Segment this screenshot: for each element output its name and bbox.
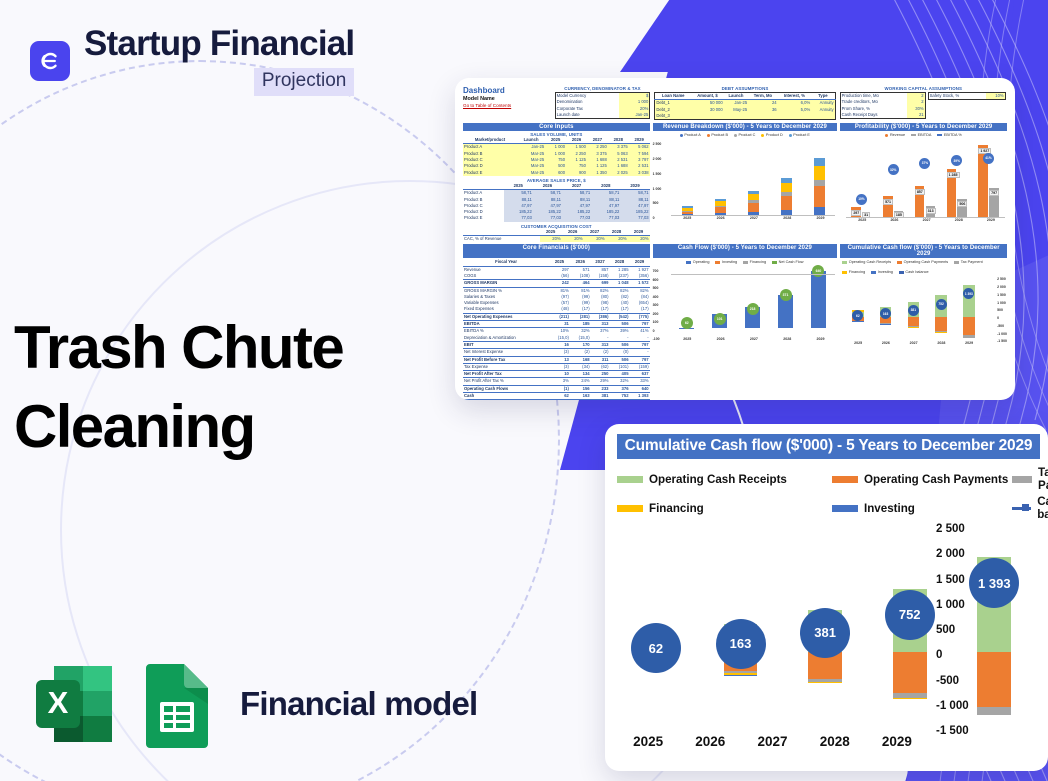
financial-cell: 506 xyxy=(610,341,630,348)
financial-cell: (17) xyxy=(570,306,591,313)
legend-item-operating-cash-receipts: Operating Cash Receipts xyxy=(617,466,832,492)
cumulative-cashflow-plot: 2 5002 0001 5001 0005000-500-1 000-1 500… xyxy=(617,529,1040,725)
brand-header: Startup Financial Projection xyxy=(30,26,354,96)
financial-cell: 637 xyxy=(630,371,650,378)
financial-cell: 376 xyxy=(610,385,630,392)
profitability-chart-title: Profitability ($'000) - 5 Years to Decem… xyxy=(840,123,1007,131)
financial-cell: 506 xyxy=(610,321,630,328)
x-tick: 2026 xyxy=(882,341,890,345)
legend-swatch xyxy=(842,271,847,274)
legend-label-tax-payment: Tax Payment xyxy=(1038,466,1048,492)
table-row: Net Profit Before Tax13168311506797 xyxy=(463,356,650,363)
table-cell: 6,0% xyxy=(778,100,812,107)
x-tick: 2027 xyxy=(750,216,758,220)
financial-cell: (3) xyxy=(549,363,570,370)
financial-cell: (56) xyxy=(549,273,570,280)
financial-cell: 10 xyxy=(549,371,570,378)
core-inputs-band: Core Inputs xyxy=(463,123,650,131)
financial-cell: (542) xyxy=(610,313,630,320)
legend-swatch-cash-balance xyxy=(1012,507,1031,510)
legend-swatch xyxy=(686,261,691,264)
legend-item-tax-payment: Tax Payment xyxy=(1012,466,1048,492)
table-row: Product EMar-256009001 3502 0253 038 xyxy=(463,170,650,176)
legend-swatch-investing xyxy=(832,505,858,512)
column-header: 2026 xyxy=(566,137,587,144)
legend-swatch xyxy=(899,271,904,274)
safety-stock-label: Safety Stock, % xyxy=(928,93,985,100)
financial-cell: 313 xyxy=(591,321,610,328)
y-tick: -1 000 xyxy=(997,332,1007,336)
financial-row-label: Net Profit Before Tax xyxy=(463,356,549,363)
table-cell: Jan-25 xyxy=(724,100,748,107)
column-header: 2025 xyxy=(545,137,566,144)
currency-row-value: $ xyxy=(619,93,650,100)
financial-row-label: EBITDA xyxy=(463,321,549,328)
dashboard-toc-link[interactable]: Go to Table of Contents xyxy=(463,103,551,108)
column-header: 2025 xyxy=(504,183,533,190)
column-header: Term, Mo xyxy=(748,93,777,100)
core-financials-panel: Fiscal Year20252026202720282029 Revenue2… xyxy=(463,259,650,400)
table-row: EBITDA %10%32%37%39%41% xyxy=(463,328,650,335)
net-cash-flow-node: 371 xyxy=(780,289,792,301)
financial-cell: (159) xyxy=(630,363,650,370)
financial-cell: 1 393 xyxy=(630,392,650,399)
table-cell: Debt_3 xyxy=(655,113,691,120)
financial-cell: 134 xyxy=(570,371,591,378)
financial-cell: (775) xyxy=(630,313,650,320)
table-cell: Annuity xyxy=(811,100,835,107)
y-tick: 600 xyxy=(653,278,660,282)
financial-cell: 464 xyxy=(570,280,591,287)
financial-row-label: GROSS MARGIN xyxy=(463,280,549,287)
y-tick: 2 000 xyxy=(997,285,1007,289)
table-cell xyxy=(724,113,748,120)
volume-cell: 3 375 xyxy=(608,144,629,151)
legend-label: Operating Cash Receipts xyxy=(849,260,891,264)
legend-swatch xyxy=(734,134,737,137)
bar-segment xyxy=(781,183,792,193)
table-row: Product AJan-251 0001 5002 2503 3755 062 xyxy=(463,144,650,151)
column-header: 2028 xyxy=(610,259,630,266)
x-tick: 2029 xyxy=(866,734,928,749)
cum-cashflow-chart-title: Cumulative Cash flow ($'000) - 5 Years t… xyxy=(840,244,1007,258)
financial-cell: 571 xyxy=(570,266,591,273)
financial-cell: 1 572 xyxy=(630,280,650,287)
table-row: EBITDA31185313506797 xyxy=(463,321,650,328)
legend-swatch xyxy=(743,261,748,264)
core-financials-band: Core Financials ($'000) xyxy=(463,244,650,258)
price-cell: 58,71 xyxy=(591,190,620,197)
column-header: Interest, % xyxy=(778,93,812,100)
financial-cell: (211) xyxy=(549,313,570,320)
column-header: 2027 xyxy=(591,259,610,266)
legend-swatch xyxy=(871,271,876,274)
legend-swatch xyxy=(761,134,764,137)
y-tick: 300 xyxy=(653,303,660,307)
legend-label: Tax Payment xyxy=(961,260,983,264)
financial-cell: (158) xyxy=(591,273,610,280)
brand-title: Startup Financial xyxy=(84,26,354,63)
financial-cell: 32% xyxy=(610,378,630,385)
financial-cell: 81% xyxy=(570,287,591,294)
currency-block-table: Model Currency$Denomination1 000Corporat… xyxy=(555,92,651,119)
x-tick: 2028 xyxy=(937,341,945,345)
dashboard-title: Dashboard xyxy=(463,86,551,95)
x-axis-line xyxy=(846,217,1005,218)
financial-cell: - xyxy=(630,335,650,342)
financial-cell: (1) xyxy=(549,385,570,392)
volume-cell: 1 500 xyxy=(566,144,587,151)
x-tick: 2029 xyxy=(987,218,995,222)
legend-item-operating-cash-payments: Operating Cash Payments xyxy=(832,466,1012,492)
legend-label-operating-cash-receipts: Operating Cash Receipts xyxy=(649,473,787,486)
table-row: Revenue2975718571 2851 927 xyxy=(463,266,650,273)
x-axis-line xyxy=(671,215,836,216)
x-tick: 2025 xyxy=(683,216,691,220)
financial-cell: 37% xyxy=(591,328,610,335)
financial-row-label: Net Operating Expenses xyxy=(463,313,549,320)
financial-row-label: GROSS MARGIN % xyxy=(463,287,549,294)
column-header: 2028 xyxy=(608,137,629,144)
financial-cell: (3) xyxy=(549,349,570,356)
financial-row-label: Net Profit After Tax xyxy=(463,371,549,378)
bar-segment xyxy=(781,196,792,210)
product-launch: Mar-25 xyxy=(517,170,545,176)
x-tick: 2027 xyxy=(741,734,803,749)
cash-balance-node: 381 xyxy=(800,608,850,658)
price-cell: 77,03 xyxy=(533,215,562,221)
product-name: Product E xyxy=(463,215,504,221)
financial-cell: (17) xyxy=(630,306,650,313)
legend-label: EBITDA % xyxy=(944,133,962,137)
financial-cell: (17) xyxy=(591,306,610,313)
working-capital-table: Production time, Mo2Trade creditors, Mo2… xyxy=(840,92,926,119)
financial-cell: 13 xyxy=(549,356,570,363)
financial-cell: 33% xyxy=(630,378,650,385)
legend-label: Cash balance xyxy=(905,270,928,274)
financial-cell: 699 xyxy=(591,280,610,287)
price-cell: 58,71 xyxy=(620,190,649,197)
table-row: Net Profit After Tax %3%24%29%32%33% xyxy=(463,378,650,385)
x-tick: 2028 xyxy=(783,216,791,220)
financial-cell: 233 xyxy=(591,385,610,392)
financial-cell: 640 xyxy=(630,385,650,392)
wc-row-value: 2 xyxy=(907,93,925,100)
product-name: Product E xyxy=(463,170,517,176)
legend-swatch-operating-cash-payments xyxy=(832,476,858,483)
volume-cell: 2 025 xyxy=(608,170,629,176)
brand-subtitle: Projection xyxy=(254,68,355,96)
financial-cell: (281) xyxy=(570,313,591,320)
price-cell: 77,03 xyxy=(591,215,620,221)
financial-cell: 168 xyxy=(570,356,591,363)
legend-swatch xyxy=(885,134,888,137)
x-tick: 2028 xyxy=(955,218,963,222)
legend-swatch-operating-cash-receipts xyxy=(617,476,643,483)
column-header: Type xyxy=(811,93,835,100)
y-tick: 500 xyxy=(653,286,660,290)
y-tick: 700 xyxy=(653,269,660,273)
legend-label: Financing xyxy=(750,260,766,264)
legend-item: Financing xyxy=(743,260,766,264)
y-tick: 500 xyxy=(997,308,1007,312)
y-tick: 1 000 xyxy=(653,187,662,191)
financial-row-label: Cash xyxy=(463,392,549,399)
legend-item-investing: Investing xyxy=(832,495,1012,521)
financial-cell: (17) xyxy=(610,306,630,313)
y-tick: -1 500 xyxy=(997,339,1007,343)
financial-cell: 10% xyxy=(549,328,570,335)
legend-item: Product B xyxy=(707,133,728,137)
wc-row-label: Production time, Mo xyxy=(840,93,907,100)
table-row: Fixed Expenses(48)(17)(17)(17)(17) xyxy=(463,306,650,313)
cash-balance-node: 752 xyxy=(885,590,935,640)
y-tick: -1 500 xyxy=(936,725,1040,737)
financial-cell: 156 xyxy=(570,385,591,392)
x-tick: 2025 xyxy=(617,734,679,749)
financial-cell: 82% xyxy=(591,287,610,294)
poster-canvas: Startup Financial Projection Trash Chute… xyxy=(0,0,1048,781)
legend-label: Product B xyxy=(711,133,728,137)
working-capital-title: WORKING CAPITAL ASSUMPTIONS xyxy=(840,86,1007,91)
legend-swatch-tax-payment xyxy=(1012,476,1032,483)
legend-label: Product E xyxy=(793,133,810,137)
y-tick: 400 xyxy=(653,295,660,299)
financial-row-label: Tax Expense xyxy=(463,363,549,370)
financial-row-label: Fixed Expenses xyxy=(463,306,549,313)
dashboard-model-name: Model Name xyxy=(463,96,551,102)
net-cash-flow-node: 218 xyxy=(747,303,759,315)
table-row: Cash Receipt Days21 xyxy=(840,112,925,119)
x-tick: 2027 xyxy=(910,341,918,345)
financial-cell: (48) xyxy=(549,306,570,313)
legend-swatch xyxy=(789,134,792,137)
column-header: Launch xyxy=(517,137,545,144)
net-cash-flow-node: 62 xyxy=(681,317,693,329)
financial-cell: 82% xyxy=(610,287,630,294)
financial-cell: 185 xyxy=(570,321,591,328)
y-tick: 2 000 xyxy=(653,157,662,161)
x-tick: 2026 xyxy=(717,216,725,220)
financial-cell: (108) xyxy=(570,273,591,280)
financial-cell: - xyxy=(591,335,610,342)
x-axis-ticks: 20252026202720282029 xyxy=(617,734,928,749)
cumulative-cashflow-title: Cumulative Cash flow ($'000) - 5 Years t… xyxy=(617,434,1040,459)
financial-cell: 16 xyxy=(549,341,570,348)
cac-label: CAC, % of Revenue xyxy=(463,236,540,243)
profitability-chart[interactable]: RevenueEBITDAEBITDA % 297315711858573131… xyxy=(840,132,1007,242)
financial-cell: 32% xyxy=(570,328,591,335)
legend-item: Product D xyxy=(761,133,782,137)
y-tick: 100 xyxy=(653,320,660,324)
financial-cell: 1 927 xyxy=(630,266,650,273)
x-tick: 2026 xyxy=(679,734,741,749)
financial-cell: 81% xyxy=(549,287,570,294)
wc-row-label: Cash Receipt Days xyxy=(840,112,907,119)
price-cell: 58,71 xyxy=(533,190,562,197)
legend-swatch xyxy=(937,134,942,137)
financial-cell: (386) xyxy=(591,313,610,320)
table-cell: 50 000 xyxy=(691,100,724,107)
column-header: Market/product xyxy=(463,137,517,144)
column-header: 2026 xyxy=(562,229,584,236)
legend-item: Operating Cash Receipts xyxy=(842,260,891,264)
legend-item: Tax Payment xyxy=(954,260,982,264)
financial-cell: 381 xyxy=(591,392,610,399)
net-cash-flow-node: 101 xyxy=(714,313,726,325)
cumulative-cashflow-card[interactable]: Cumulative Cash flow ($'000) - 5 Years t… xyxy=(605,424,1048,771)
financial-cell: 797 xyxy=(630,341,650,348)
legend-item: Investing xyxy=(871,270,893,274)
financial-row-label: Revenue xyxy=(463,266,549,273)
legend-swatch-financing xyxy=(617,505,643,512)
cashflow-chart-title: Cash Flow ($'000) - 5 Years to December … xyxy=(653,244,838,258)
table-row: Debt_3 xyxy=(655,113,835,120)
table-row: EBIT16170313506797 xyxy=(463,341,650,348)
cash-balance-node: 752 xyxy=(936,299,947,310)
table-cell xyxy=(778,113,812,120)
financial-row-label: COGS xyxy=(463,273,549,280)
legend-item: Cash balance xyxy=(899,270,929,274)
financial-cell: 62 xyxy=(549,392,570,399)
cash-balance-node: 163 xyxy=(716,619,766,669)
bar-column xyxy=(814,158,825,216)
x-tick: 2027 xyxy=(750,337,758,341)
financial-cell: - xyxy=(630,349,650,356)
legend-label: Revenue xyxy=(890,133,905,137)
financial-cell: 41% xyxy=(630,328,650,335)
product-name: Product A xyxy=(463,144,517,151)
table-row: Net Interest Expense(3)(2)(2)(0)- xyxy=(463,349,650,356)
financial-cell: 1 285 xyxy=(610,266,630,273)
revenue-chart-title: Revenue Breakdown ($'000) - 5 Years to D… xyxy=(653,123,838,131)
legend-swatch xyxy=(842,261,847,264)
revenue-breakdown-chart[interactable]: Product AProduct BProduct CProduct DProd… xyxy=(653,132,838,242)
financial-cell: 797 xyxy=(630,356,650,363)
table-cell xyxy=(691,113,724,120)
table-row: Launch dateJan-25 xyxy=(555,112,650,119)
legend-label: Operating xyxy=(693,260,710,264)
table-row: Net Operating Expenses(211)(281)(386)(54… xyxy=(463,313,650,320)
core-inputs-panel: SALES VOLUME, UNITS Market/productLaunch… xyxy=(463,132,650,242)
bar-column xyxy=(781,178,792,216)
legend-label: Product D xyxy=(766,133,783,137)
wc-row-value: 21 xyxy=(907,112,925,119)
safety-stock-table: Safety Stock, % 10% xyxy=(928,92,1006,100)
volume-cell: 1 000 xyxy=(545,144,566,151)
table-row: Net Profit After Tax10134250405637 xyxy=(463,371,650,378)
debt-block-table: Loan NameAmount, $LaunchTerm, MoInterest… xyxy=(654,92,835,120)
financial-cell: 31 xyxy=(549,321,570,328)
financial-cell: 313 xyxy=(591,341,610,348)
y-tick: 200 xyxy=(653,312,660,316)
cumulative-cashflow-legend: Operating Cash Receipts Operating Cash P… xyxy=(617,466,1040,521)
cashflow-chart[interactable]: OperatingInvestingFinancingNet Cash Flow… xyxy=(653,259,838,400)
column-header: 2026 xyxy=(570,259,591,266)
column-header: Fiscal Year xyxy=(463,259,549,266)
x-tick: 2026 xyxy=(890,218,898,222)
format-badges-label: Financial model xyxy=(240,685,477,723)
legend-item: Product E xyxy=(789,133,810,137)
y-tick: -500 xyxy=(997,324,1007,328)
cumulative-cashflow-chart[interactable]: Operating Cash ReceiptsOperating Cash Pa… xyxy=(840,259,1007,400)
table-row: CAC, % of Revenue20%20%20%20%20% xyxy=(463,236,650,243)
x-tick: 2029 xyxy=(965,341,973,345)
x-axis-line xyxy=(671,274,836,275)
column-header: 2027 xyxy=(562,183,591,190)
cac-cell: 20% xyxy=(606,236,628,243)
column-header: 2026 xyxy=(533,183,562,190)
financial-cell: (2) xyxy=(570,349,591,356)
dashboard-preview-card[interactable]: Dashboard Model Name Go to Table of Cont… xyxy=(455,78,1015,400)
page-title: Trash Chute Cleaning xyxy=(14,308,444,466)
y-tick: 0 xyxy=(653,216,662,220)
financial-row-label: EBIT xyxy=(463,341,549,348)
microsoft-excel-icon: X xyxy=(30,660,118,748)
excel-glyph: X xyxy=(48,685,69,720)
financial-cell: (356) xyxy=(630,273,650,280)
x-tick: 2029 xyxy=(817,337,825,341)
cash-balance-node: 381 xyxy=(908,305,919,316)
financial-cell: 752 xyxy=(610,392,630,399)
google-sheets-icon xyxy=(140,660,214,748)
column-header: 2025 xyxy=(549,259,570,266)
cac-cell: 20% xyxy=(584,236,606,243)
currency-row-label: Model Currency xyxy=(555,93,619,100)
legend-swatch xyxy=(707,134,710,137)
table-cell xyxy=(748,113,777,120)
ebitda-percent-line xyxy=(846,138,1005,218)
financial-cell: 311 xyxy=(591,356,610,363)
bar-segment xyxy=(814,186,825,207)
legend-swatch xyxy=(772,261,777,264)
safety-stock-value: 10% xyxy=(986,93,1006,100)
legend-item: Product A xyxy=(680,133,701,137)
y-tick: 0 xyxy=(997,316,1007,320)
legend-item: Net Cash Flow xyxy=(772,260,803,264)
financial-cell: 405 xyxy=(610,371,630,378)
x-tick: 2028 xyxy=(804,734,866,749)
y-tick: 1 500 xyxy=(997,293,1007,297)
financial-row-label: Depreciation & Amortization xyxy=(463,335,549,342)
legend-item: Financing xyxy=(842,270,865,274)
financial-row-label: Operating Cash Flows xyxy=(463,385,549,392)
y-tick: 2 500 xyxy=(997,277,1007,281)
legend-item: Investing xyxy=(715,260,737,264)
avg-price-table: 20252026202720282029 Product A58,7158,71… xyxy=(463,183,650,222)
column-header: 2029 xyxy=(620,183,649,190)
financial-cell: 3% xyxy=(549,378,570,385)
cac-cell: 20% xyxy=(562,236,584,243)
startup-financial-logo-icon xyxy=(30,41,70,81)
table-row: COGS(56)(108)(158)(237)(356) xyxy=(463,273,650,280)
price-cell: 58,71 xyxy=(504,190,533,197)
financial-cell: 857 xyxy=(591,266,610,273)
financial-cell: (62) xyxy=(591,363,610,370)
financial-cell: (101) xyxy=(610,363,630,370)
financial-cell: 39% xyxy=(610,328,630,335)
legend-item: Revenue xyxy=(885,133,905,137)
x-tick: 2025 xyxy=(683,337,691,341)
volume-cell: 5 062 xyxy=(629,144,650,151)
financial-cell: 163 xyxy=(570,392,591,399)
product-launch: Jan-25 xyxy=(517,144,545,151)
table-row: GROSS MARGIN2424646991 0481 572 xyxy=(463,280,650,287)
table-row: Cash621633817521 393 xyxy=(463,392,650,399)
financial-cell: (15,0) xyxy=(570,335,591,342)
financial-cell: 250 xyxy=(591,371,610,378)
financial-cell: (0) xyxy=(610,349,630,356)
